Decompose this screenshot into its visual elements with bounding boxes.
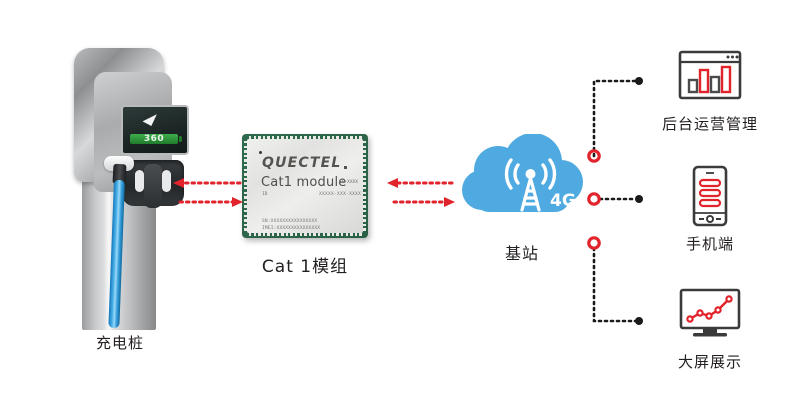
label-big-screen: 大屏展示 xyxy=(655,351,765,372)
network-generation-text: 4G xyxy=(550,191,576,211)
module-pin1-dot xyxy=(259,151,262,154)
node-cat1-module[interactable]: QUECTEL Cat1 module EC-XXXX ID XXXXX-XXX… xyxy=(242,134,368,238)
module-serial-1: SN:XXXXXXXXXXXXXXXX xyxy=(262,219,317,224)
pile-head-face: 360 xyxy=(94,72,172,192)
origin-ring-icon-1 xyxy=(589,151,599,161)
node-mobile-client[interactable]: 手机端 xyxy=(655,164,765,254)
node-charging-pile[interactable]: 360 xyxy=(60,30,180,330)
cloud-base-station-icon: 4G xyxy=(458,134,586,234)
module-part-number: EC-XXXX xyxy=(339,180,358,185)
link-base-to-mobile xyxy=(589,194,643,204)
endpoint-dot-icon-2 xyxy=(635,195,643,203)
node-big-screen[interactable]: 大屏展示 xyxy=(655,282,765,372)
label-mobile-client: 手机端 xyxy=(655,233,765,254)
module-id-value: XXXXX-XXX-XXXX xyxy=(319,192,361,197)
label-cat1-module: Cat 1模组 xyxy=(245,252,365,277)
module-product-name: Cat1 module xyxy=(261,175,346,190)
diagram-canvas: 360 充电桩 QUECTEL Cat1 module EC-XXXX ID xyxy=(0,0,800,402)
link-module-to-base xyxy=(387,178,455,207)
backend-dashboard-icon xyxy=(655,44,765,108)
arrowhead-right-icon-2 xyxy=(444,197,455,207)
mobile-phone-icon xyxy=(655,164,765,228)
big-screen-display-icon xyxy=(655,282,765,346)
endpoint-dot-icon-3 xyxy=(635,317,643,325)
module-serial-2: IMEI:XXXXXXXXXXXXXXX xyxy=(262,226,320,231)
node-backend-dashboard[interactable]: 后台运营管理 xyxy=(655,44,765,134)
node-base-station[interactable]: 4G xyxy=(458,134,586,234)
link-base-to-backend xyxy=(589,77,643,161)
label-backend-dashboard: 后台运营管理 xyxy=(655,113,765,134)
endpoint-dot-icon-1 xyxy=(635,77,643,85)
connector-prong-right xyxy=(162,170,171,192)
origin-ring-icon-2 xyxy=(589,194,599,204)
connector-prong-left xyxy=(135,170,144,192)
label-charging-pile: 充电桩 xyxy=(60,332,180,353)
link-base-to-bigscreen xyxy=(589,238,643,325)
module-brand-logo: QUECTEL xyxy=(262,155,342,171)
dotted-connector-line-1 xyxy=(594,81,638,156)
dotted-connector-line-3 xyxy=(594,248,638,321)
label-base-station: 基站 xyxy=(462,240,582,264)
arrowhead-left-icon-2 xyxy=(387,178,398,188)
module-shield-can: QUECTEL Cat1 module EC-XXXX ID XXXXX-XXX… xyxy=(247,139,363,233)
connector-plug-body xyxy=(144,164,162,208)
lightning-bolt-icon xyxy=(143,111,160,126)
module-id-label: ID xyxy=(262,192,267,197)
pile-display-screen[interactable]: 360 xyxy=(121,105,189,155)
origin-ring-icon-3 xyxy=(589,238,599,248)
battery-value: 360 xyxy=(130,132,178,146)
